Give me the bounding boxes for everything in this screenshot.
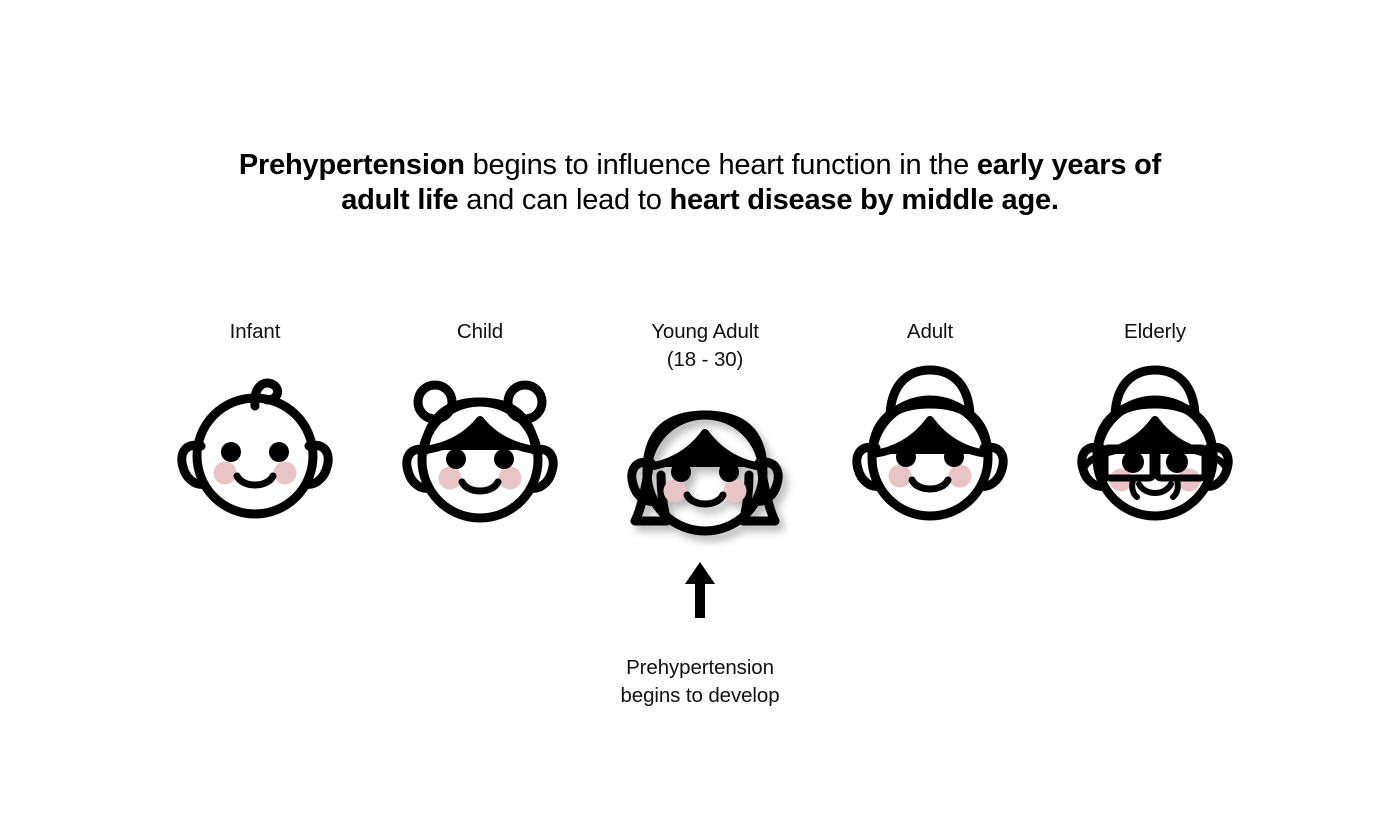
headline-text: Prehypertension begins to influence hear… — [239, 149, 1161, 216]
headline-emphasis: Prehypertension — [239, 149, 465, 181]
stage-elderly[interactable]: Elderly — [1050, 318, 1260, 531]
eye-right — [269, 442, 289, 462]
eye-right — [1166, 451, 1188, 473]
headline-plain: begins to influence heart function in th… — [465, 149, 977, 181]
stage-label-adult: Adult — [907, 318, 953, 346]
cheek-left — [889, 465, 912, 488]
callout-text: Prehypertension begins to develop — [620, 654, 779, 710]
cheek-right — [949, 465, 972, 488]
smile — [462, 482, 498, 491]
smile — [687, 495, 723, 504]
stage-child[interactable]: Child — [375, 318, 585, 537]
child-face-icon — [380, 362, 580, 537]
mouth-lines — [1132, 480, 1178, 497]
cheek-left — [664, 479, 687, 502]
stage-label-elderly: Elderly — [1124, 318, 1186, 346]
stage-label-infant: Infant — [230, 318, 281, 346]
page-title: Prehypertension begins to influence hear… — [210, 148, 1190, 219]
cheek-left — [214, 462, 237, 485]
adult-face-icon — [830, 356, 1030, 531]
smile — [237, 476, 273, 485]
headline-emphasis: heart disease by middle age. — [669, 184, 1058, 216]
glasses-icon — [1085, 448, 1225, 478]
stage-label-child: Child — [457, 318, 503, 346]
callout-prehypertension: Prehypertension begins to develop — [560, 560, 840, 710]
infant-face-icon — [155, 360, 355, 535]
cheek-right — [724, 479, 747, 502]
cheek-right — [499, 467, 522, 490]
eye-right — [494, 449, 514, 469]
cheek-right — [274, 462, 297, 485]
eye-left — [221, 442, 241, 462]
life-stage-row: Infant Child — [150, 318, 1260, 550]
young-adult-face-icon — [605, 375, 805, 550]
elderly-face-icon — [1055, 356, 1255, 531]
eye-left — [446, 449, 466, 469]
stage-infant[interactable]: Infant — [150, 318, 360, 535]
stage-adult[interactable]: Adult — [825, 318, 1035, 531]
headline-plain: and can lead to — [458, 184, 669, 216]
eye-left — [1122, 451, 1144, 473]
up-arrow-icon — [680, 560, 720, 620]
smile — [912, 480, 948, 489]
stage-label-young-adult: Young Adult (18 - 30) — [651, 318, 759, 375]
stage-young-adult[interactable]: Young Adult (18 - 30) — [600, 318, 810, 550]
cheek-left — [439, 467, 462, 490]
